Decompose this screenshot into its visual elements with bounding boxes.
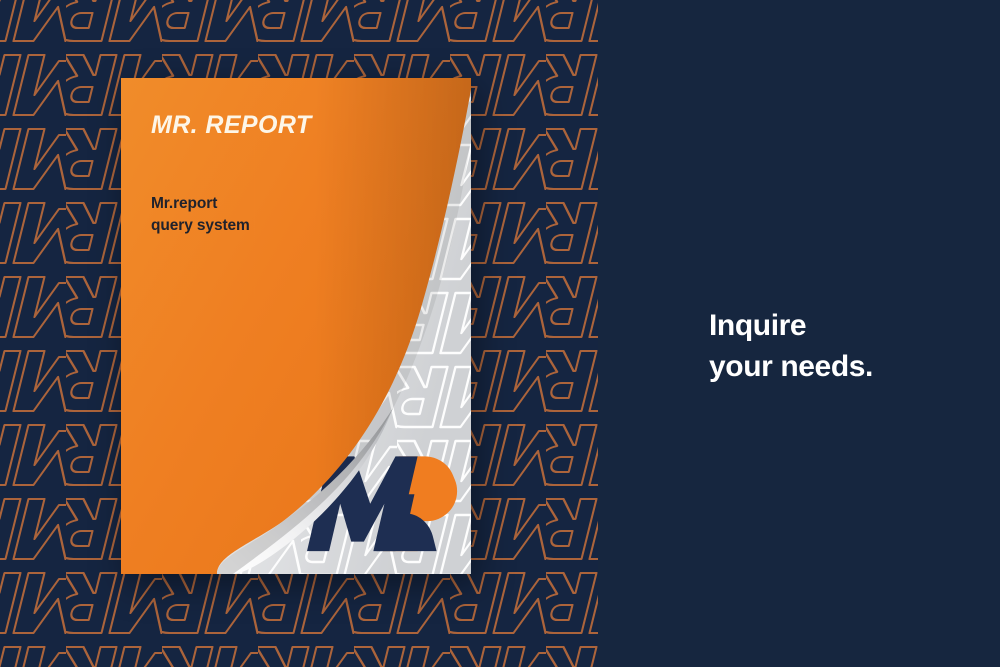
headline: Inquire your needs. [709,305,979,388]
cover-subtitle-line-1: Mr.report [151,193,250,215]
cover-title: MR. REPORT [151,111,312,140]
headline-line-1: Inquire [709,309,806,342]
headline-line-2: your needs. [709,346,979,387]
brochure-mockup: MR. REPORT Mr.report query system [121,78,471,574]
cover-subtitle: Mr.report query system [151,193,250,237]
mockup-canvas: Inquire your needs. [0,0,1000,667]
cover-subtitle-line-2: query system [151,215,250,237]
